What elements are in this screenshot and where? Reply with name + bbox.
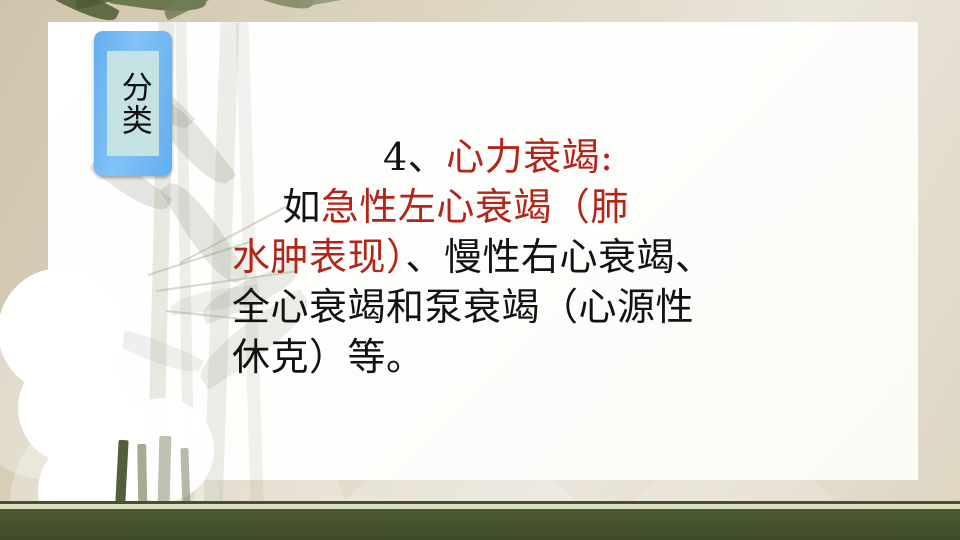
text-run: 4、 <box>383 135 446 179</box>
category-badge-inner: 分类 <box>107 51 159 156</box>
text-line: 全心衰竭和泵衰竭（心源性 <box>232 282 792 332</box>
text-run-accent: 心力衰竭 <box>446 135 600 179</box>
text-line: 水肿表现）、慢性右心衰竭、 <box>232 232 792 282</box>
text-run: 如 <box>282 185 321 229</box>
text-run-accent: 水肿表现） <box>232 235 406 279</box>
category-badge-label: 分类 <box>117 71 149 137</box>
category-badge[interactable]: 分类 <box>94 31 172 176</box>
footer-band <box>0 509 960 540</box>
text-run: 休克）等。 <box>232 335 425 379</box>
text-line: 4、心力衰竭: <box>232 132 792 182</box>
bamboo-leaf-icon <box>160 0 240 21</box>
bamboo-leaf-icon <box>299 0 393 7</box>
text-run: 、慢性右心衰竭、 <box>406 235 714 279</box>
text-run-accent: : <box>600 135 613 179</box>
bamboo-leaf-icon <box>225 0 315 16</box>
bamboo-leaf-icon <box>73 0 149 10</box>
text-line: 如急性左心衰竭（肺 <box>232 182 792 232</box>
text-run-accent: 急性左心衰竭（肺 <box>321 185 629 229</box>
slide-body-text: 4、心力衰竭: 如急性左心衰竭（肺水肿表现）、慢性右心衰竭、全心衰竭和泵衰竭（心… <box>232 132 792 382</box>
bamboo-leaf-icon <box>109 0 207 17</box>
text-run: 全心衰竭和泵衰竭（心源性 <box>232 285 694 329</box>
slide-canvas: 分类 4、心力衰竭: 如急性左心衰竭（肺水肿表现）、慢性右心衰竭、全心衰竭和泵衰… <box>0 0 960 540</box>
text-line: 休克）等。 <box>232 332 792 382</box>
